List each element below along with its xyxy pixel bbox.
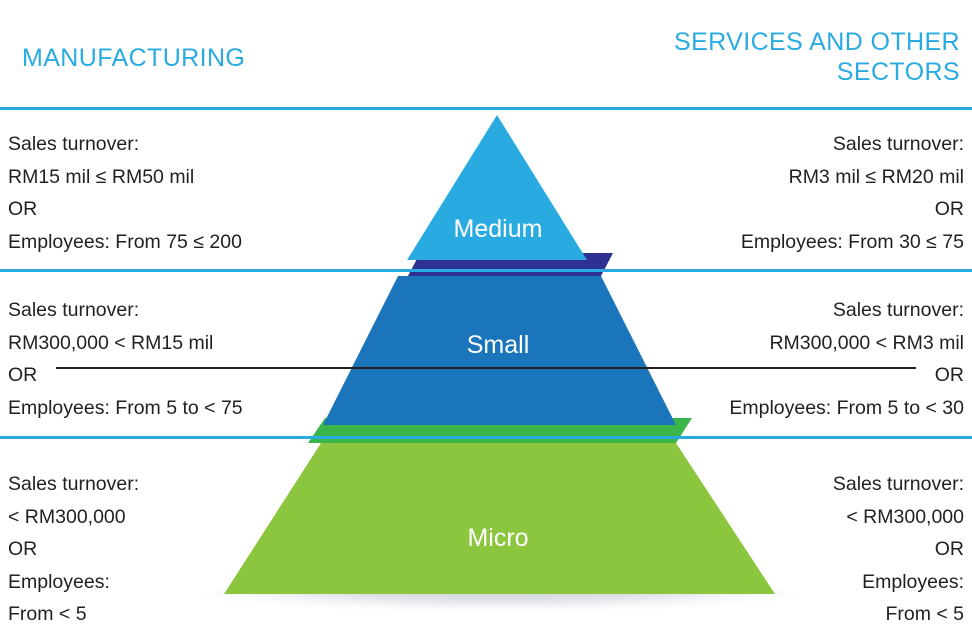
tier-label-micro: Micro — [378, 524, 618, 553]
tier-label-medium: Medium — [378, 215, 618, 244]
spec-micro-services: Sales turnover: < RM300,000 OR Employees… — [833, 468, 964, 631]
pyramid-band-micro — [308, 418, 692, 443]
divider-rule-top — [0, 107, 972, 110]
spec-medium-services: Sales turnover: RM3 mil ≤ RM20 mil OR Em… — [741, 128, 964, 258]
divider-rule-medium-small — [0, 269, 972, 272]
spec-small-services: Sales turnover: RM300,000 < RM3 mil OR E… — [729, 294, 964, 424]
infographic-canvas: MANUFACTURING SERVICES AND OTHER SECTORS… — [0, 0, 972, 619]
tier-label-small: Small — [378, 331, 618, 360]
divider-rule-small-micro — [0, 436, 972, 439]
spec-medium-manufacturing: Sales turnover: RM15 mil ≤ RM50 mil OR E… — [8, 128, 242, 258]
column-header-services: SERVICES AND OTHER SECTORS — [674, 28, 960, 87]
spec-micro-manufacturing: Sales turnover: < RM300,000 OR Employees… — [8, 468, 139, 631]
pyramid-band-small — [408, 253, 613, 276]
column-header-manufacturing: MANUFACTURING — [22, 44, 245, 74]
pyramid-tier-micro — [224, 443, 775, 594]
pyramid-base-shadow — [200, 574, 800, 619]
spec-small-manufacturing: Sales turnover: RM300,000 < RM15 mil OR … — [8, 294, 243, 424]
